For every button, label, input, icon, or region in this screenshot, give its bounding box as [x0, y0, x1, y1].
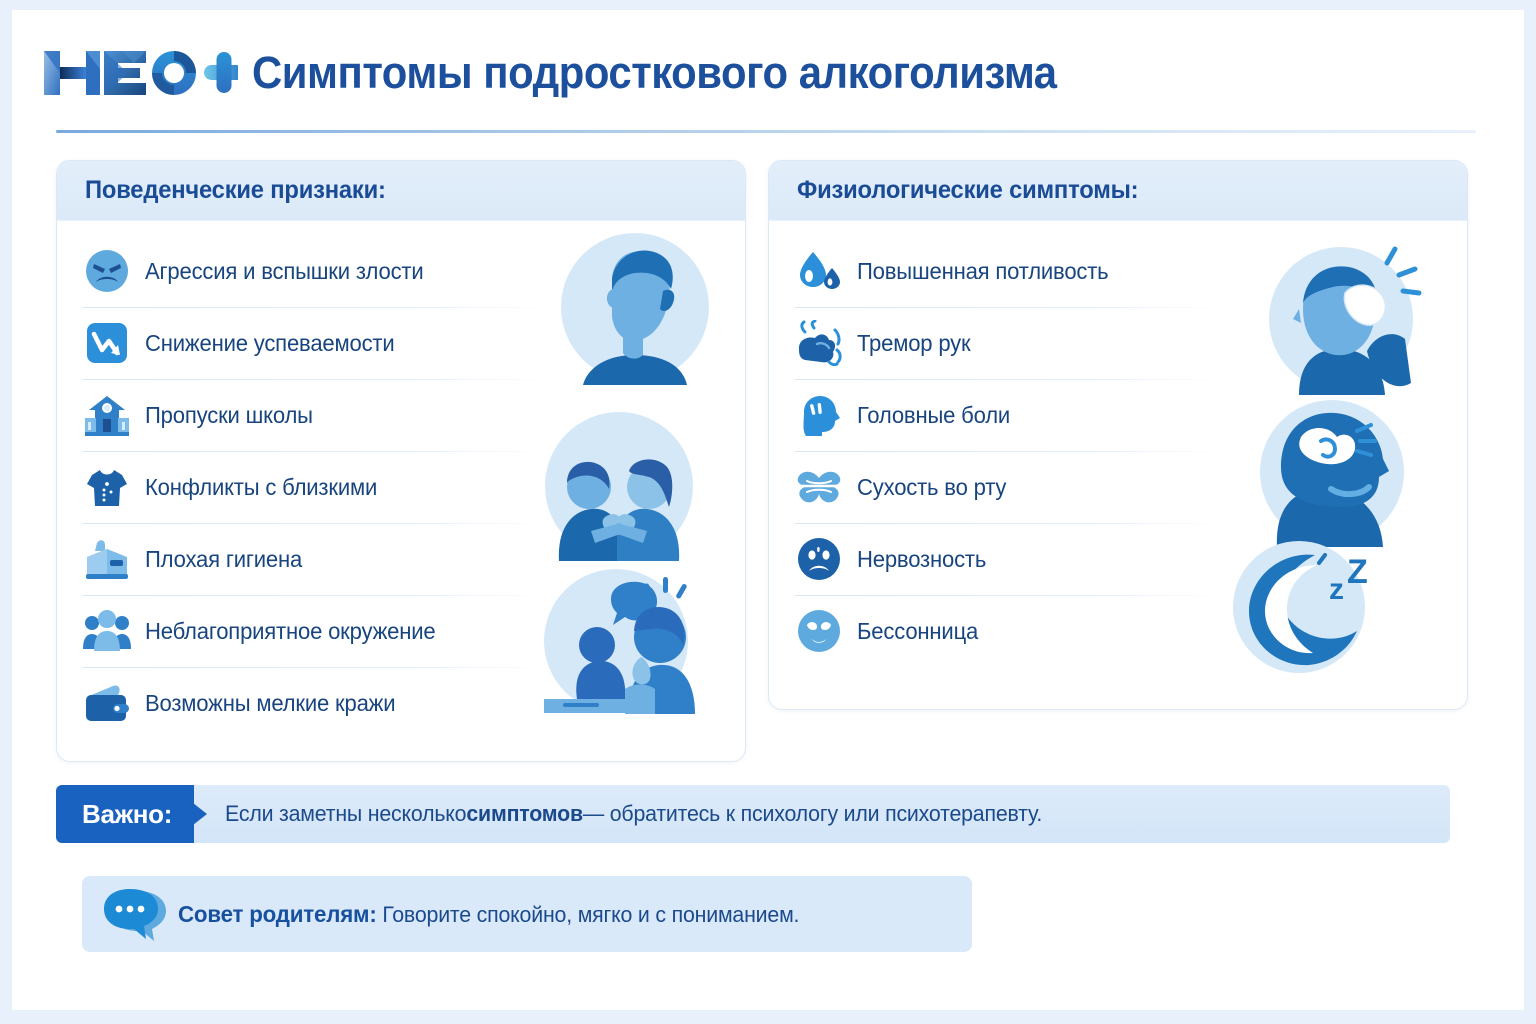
wallet-icon [83, 679, 131, 727]
soap-hygiene-icon [83, 535, 131, 583]
speech-bubble-icon [104, 885, 178, 943]
list-item[interactable]: Возможны мелкие кражи [57, 667, 745, 739]
tired-face-icon [795, 607, 843, 655]
list-item-label: Конфликты с близкими [145, 474, 377, 501]
advice-label: Совет родителям: [178, 901, 377, 927]
list-item-label: Неблагоприятное окружение [145, 618, 435, 645]
physiological-symptoms-panel: Физиологические симптомы: [768, 160, 1468, 710]
group-people-icon [83, 607, 131, 655]
important-tag: Важно: [56, 785, 194, 843]
neo-plus-logo [38, 41, 238, 105]
list-item-label: Повышенная потливость [857, 258, 1108, 285]
physiological-panel-header: Физиологические симптомы: [769, 161, 1467, 221]
list-item[interactable]: Тремор рук [769, 307, 1467, 379]
behavioral-panel-body: Агрессия и вспышки злости Снижение усп [57, 221, 745, 761]
important-notice: Важно: Если заметны несколько симптомов … [56, 785, 1450, 843]
page-title: Симптомы подросткового алкоголизма [252, 47, 1057, 99]
list-item[interactable]: Плохая гигиена [57, 523, 745, 595]
list-item-label: Бессонница [857, 618, 978, 645]
list-item[interactable]: Конфликты с близкими [57, 451, 745, 523]
behavioral-items-list: Агрессия и вспышки злости Снижение усп [57, 235, 745, 739]
list-item-label: Возможны мелкие кражи [145, 690, 395, 717]
infographic-page: Симптомы подросткового алкоголизма Повед… [0, 0, 1536, 1024]
declining-chart-icon [83, 319, 131, 367]
list-item[interactable]: Снижение успеваемости [57, 307, 745, 379]
behavioral-panel-header: Поведенческие признаки: [57, 161, 745, 221]
list-item[interactable]: Неблагоприятное окружение [57, 595, 745, 667]
list-item-label: Пропуски школы [145, 402, 313, 429]
physiological-panel-title: Физиологические симптомы: [797, 176, 1138, 205]
list-item[interactable]: Пропуски школы [57, 379, 745, 451]
important-text: Если заметны несколько симптомов — обрат… [194, 785, 1042, 843]
important-text-after: — обратитесь к психологу или психотерапе… [583, 801, 1042, 827]
list-item[interactable]: Повышенная потливость [769, 235, 1467, 307]
list-item[interactable]: Головные боли [769, 379, 1467, 451]
important-text-before: Если заметны несколько [225, 801, 466, 827]
list-item-label: Сухость во рту [857, 474, 1006, 501]
list-item[interactable]: Агрессия и вспышки злости [57, 235, 745, 307]
list-item-label: Тремор рук [857, 330, 971, 357]
school-building-icon [83, 391, 131, 439]
list-item-label: Снижение успеваемости [145, 330, 394, 357]
tshirt-icon [83, 463, 131, 511]
shaking-hand-icon [795, 319, 843, 367]
page-header: Симптомы подросткового алкоголизма [12, 10, 1524, 136]
list-item-label: Головные боли [857, 402, 1010, 429]
advice-notice: Совет родителям: Говорите спокойно, мягк… [82, 876, 972, 952]
physiological-panel-body: z Z [769, 221, 1467, 709]
nervous-face-icon [795, 535, 843, 583]
list-item[interactable]: Сухость во рту [769, 451, 1467, 523]
physiological-items-list: Повышенная потливость [769, 235, 1467, 667]
angry-face-icon [83, 247, 131, 295]
header-divider [56, 130, 1476, 133]
water-drops-icon [795, 247, 843, 295]
head-pain-icon [795, 391, 843, 439]
list-item[interactable]: Бессонница [769, 595, 1467, 667]
list-item[interactable]: Нервозность [769, 523, 1467, 595]
list-item-label: Нервозность [857, 546, 986, 573]
list-item-label: Плохая гигиена [145, 546, 302, 573]
behavioral-panel-title: Поведенческие признаки: [85, 176, 386, 205]
behavioral-signs-panel: Поведенческие признаки: [56, 160, 746, 762]
panels-container: Поведенческие признаки: [12, 160, 1524, 762]
list-item-label: Агрессия и вспышки злости [145, 258, 423, 285]
dry-lips-icon [795, 463, 843, 511]
advice-body: Говорите спокойно, мягко и с пониманием. [377, 902, 800, 927]
infographic-sheet: Симптомы подросткового алкоголизма Повед… [12, 10, 1524, 1010]
important-text-bold: симптомов [466, 801, 583, 827]
advice-text: Совет родителям: Говорите спокойно, мягк… [178, 901, 799, 928]
